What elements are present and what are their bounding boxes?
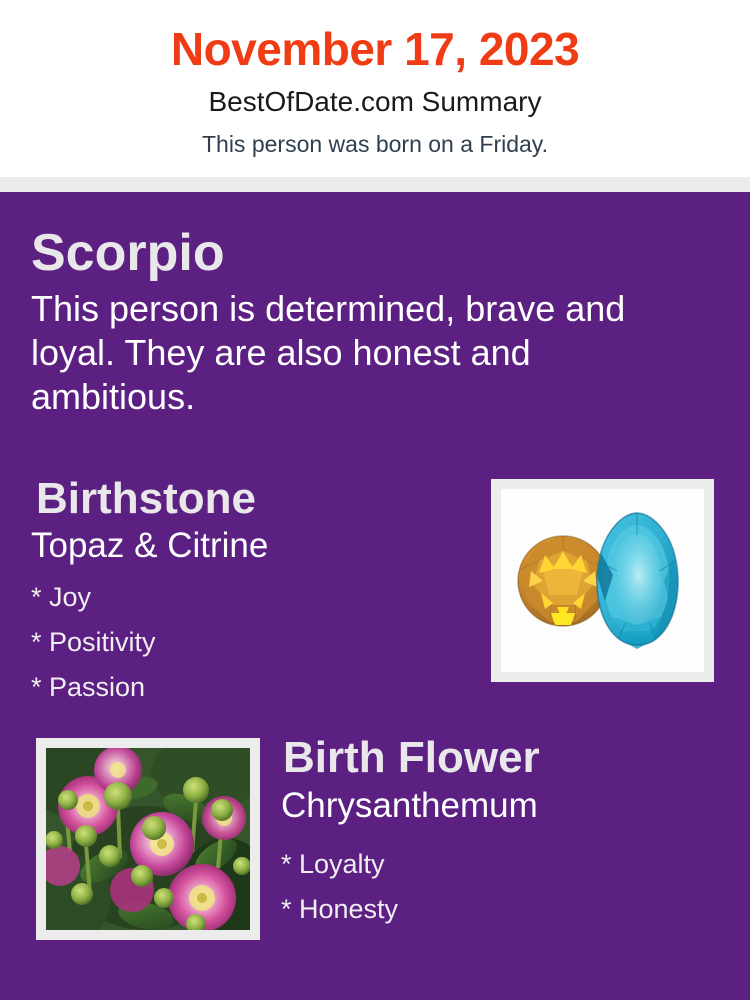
citrine-gem-shape bbox=[518, 536, 608, 626]
birth-flower-image bbox=[46, 748, 250, 930]
list-item: * Loyalty bbox=[281, 842, 701, 887]
birthstone-image bbox=[501, 489, 704, 672]
gemstone-illustration bbox=[501, 489, 704, 672]
birth-flower-name: Chrysanthemum bbox=[281, 785, 538, 827]
birth-flower-trait-list: * Loyalty * Honesty bbox=[281, 842, 701, 932]
zodiac-description: This person is determined, brave and loy… bbox=[31, 287, 699, 419]
site-summary-label: BestOfDate.com Summary bbox=[0, 85, 750, 119]
birthstone-trait-list: * Joy * Positivity * Passion bbox=[31, 575, 451, 710]
list-item: * Honesty bbox=[281, 887, 701, 932]
list-item: * Joy bbox=[31, 575, 451, 620]
page-header: November 17, 2023 BestOfDate.com Summary… bbox=[0, 0, 750, 177]
birth-flower-heading: Birth Flower bbox=[283, 732, 540, 784]
list-item: * Positivity bbox=[31, 620, 451, 665]
topaz-gem-shape bbox=[597, 513, 678, 649]
birthstone-image-frame bbox=[491, 479, 714, 682]
birthstone-name: Topaz & Citrine bbox=[31, 525, 268, 567]
birth-weekday-note: This person was born on a Friday. bbox=[0, 129, 750, 159]
header-divider bbox=[0, 177, 750, 192]
list-item: * Passion bbox=[31, 665, 451, 710]
birth-flower-image-frame bbox=[36, 738, 260, 940]
chrysanthemum-illustration bbox=[46, 748, 250, 930]
content-panel: Scorpio This person is determined, brave… bbox=[0, 192, 750, 1000]
zodiac-sign-heading: Scorpio bbox=[31, 224, 225, 282]
page-title-date: November 17, 2023 bbox=[0, 21, 750, 77]
birthstone-heading: Birthstone bbox=[36, 473, 256, 525]
date-summary-page: November 17, 2023 BestOfDate.com Summary… bbox=[0, 0, 750, 1000]
